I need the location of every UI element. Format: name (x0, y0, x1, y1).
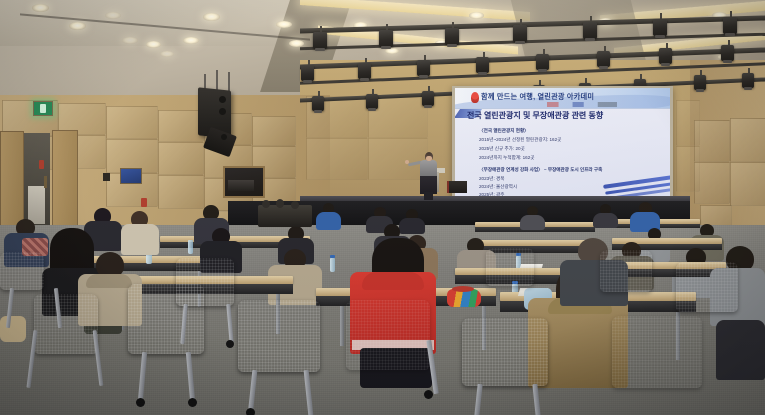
exit-sign-icon (33, 101, 53, 116)
audience-body (593, 213, 618, 228)
downlight-icon (203, 13, 220, 21)
water-bottle (330, 258, 335, 272)
slide-line: 2025년 신규 추가: 20곳 (479, 146, 525, 152)
chair[interactable] (486, 248, 534, 286)
stage-monitor-speaker (447, 181, 467, 193)
presenter-legs (424, 192, 433, 200)
bottle-cap (330, 255, 335, 258)
stage-spotlight (659, 48, 672, 64)
audience-body (716, 320, 765, 380)
banner-title: 함께 만드는 여행, 열린관광 아카데미 (481, 92, 594, 102)
stage-spotlight (723, 17, 737, 34)
wood-panel (306, 138, 368, 180)
stage-spotlight (597, 51, 610, 67)
chair[interactable] (176, 258, 234, 306)
bag-handle (452, 286, 474, 292)
downlight-icon (183, 37, 199, 44)
audience-body (520, 215, 545, 230)
wood-panel (730, 118, 765, 162)
jacket-hood (362, 272, 424, 290)
stage-spotlight (583, 22, 597, 39)
downlight-icon (160, 51, 174, 57)
slide-section-heading: 〈무장애관광 연계성 강화 사업〉 – 무장애관광 도시 인프라 구축 (479, 167, 602, 173)
audience-body (316, 212, 341, 230)
slide-title: 전국 열린관광지 및 무장애관광 관련 동향 (467, 110, 603, 121)
stage-spotlight (312, 96, 324, 111)
wood-panel (158, 175, 204, 209)
downlight-icon (276, 21, 292, 28)
chair-caster (424, 390, 433, 399)
chair-caster (226, 340, 234, 348)
slide-line: 2023년: 경북 (479, 176, 504, 182)
wood-panel (676, 146, 700, 192)
stage-spotlight (476, 57, 489, 73)
downlight-icon (289, 40, 304, 47)
slide-section-heading: 〈전국 열린관광지 현황〉 (479, 128, 529, 134)
wood-panel (106, 106, 158, 139)
audience-body (121, 224, 159, 255)
equipment-knob (262, 200, 270, 208)
stage-spotlight (422, 91, 434, 106)
stage-spotlight (417, 60, 430, 76)
door-left[interactable] (0, 131, 24, 231)
presenter-face (426, 156, 432, 161)
tote-bag (0, 316, 26, 342)
stage-spotlight (513, 25, 527, 42)
wall-display-panel[interactable] (120, 168, 142, 184)
wood-panel (368, 138, 428, 180)
stage-spotlight (742, 73, 754, 88)
projected-slide: 함께 만드는 여행, 열린관광 아카데미 전국 열린관광지 및 무장애관광 관련… (455, 88, 670, 204)
downlight-icon (122, 37, 138, 44)
stage-spotlight (379, 30, 393, 47)
chair[interactable] (346, 300, 430, 370)
stage-spotlight (366, 94, 378, 109)
chair[interactable] (238, 300, 320, 372)
water-bottle (188, 240, 193, 254)
downlight-icon (146, 41, 161, 48)
banner-sponsor-logos (547, 102, 617, 107)
chair-caster (188, 398, 197, 407)
chair[interactable] (600, 250, 652, 292)
chair[interactable] (34, 294, 98, 354)
speaker-driver (219, 96, 226, 103)
stage-spotlight (445, 28, 459, 45)
stage-spotlight (721, 45, 734, 61)
lecture-hall-photo: 함께 만드는 여행, 열린관광 아카데미 전국 열린관광지 및 무장애관광 관련… (0, 0, 765, 415)
equipment-knob (291, 201, 299, 209)
wood-panel (676, 100, 700, 146)
wood-panel (252, 116, 296, 146)
speaker-driver (219, 108, 226, 115)
door-mid[interactable] (52, 130, 78, 232)
chair[interactable] (0, 252, 44, 290)
downlight-icon (105, 12, 121, 19)
slide-line: 2024년까지 누적합계: 162곳 (479, 155, 535, 161)
wood-panel (730, 162, 765, 206)
fire-extinguisher-box (39, 160, 44, 169)
chair[interactable] (676, 262, 738, 312)
equipment-knob (276, 199, 284, 208)
doorway-light (28, 186, 45, 224)
downlight-icon (69, 22, 86, 30)
wall-switch-panel[interactable] (103, 173, 110, 181)
slide-line: 2024년: 울산광역시 (479, 184, 517, 190)
stage-spotlight (653, 19, 667, 36)
stage-spotlight (536, 54, 549, 70)
table-leg (340, 306, 344, 346)
door-handle[interactable] (44, 176, 47, 188)
audience-body (399, 218, 425, 234)
downlight-icon (469, 12, 484, 19)
speaker-rigging (228, 72, 230, 92)
speaker-driver (221, 134, 227, 140)
hoodie-hood (86, 274, 132, 288)
slide-line: 2015년~2024년 선정된 열린관광지: 162곳 (479, 137, 561, 143)
fire-extinguisher-icon (141, 198, 147, 207)
presenter-hand (405, 160, 409, 164)
chair[interactable] (462, 318, 548, 386)
chair[interactable] (612, 316, 702, 388)
stage-spotlight (694, 75, 706, 90)
banner-emblem-icon (471, 92, 479, 103)
stage-spotlight (301, 65, 314, 81)
stage-spotlight (313, 32, 327, 49)
wood-panel (158, 142, 204, 175)
downlight-icon (32, 4, 49, 12)
chair-caster (246, 408, 255, 415)
booth-equipment (228, 180, 254, 191)
stage-equipment (258, 205, 312, 227)
stage-spotlight (358, 63, 371, 79)
chair-caster (136, 398, 145, 407)
